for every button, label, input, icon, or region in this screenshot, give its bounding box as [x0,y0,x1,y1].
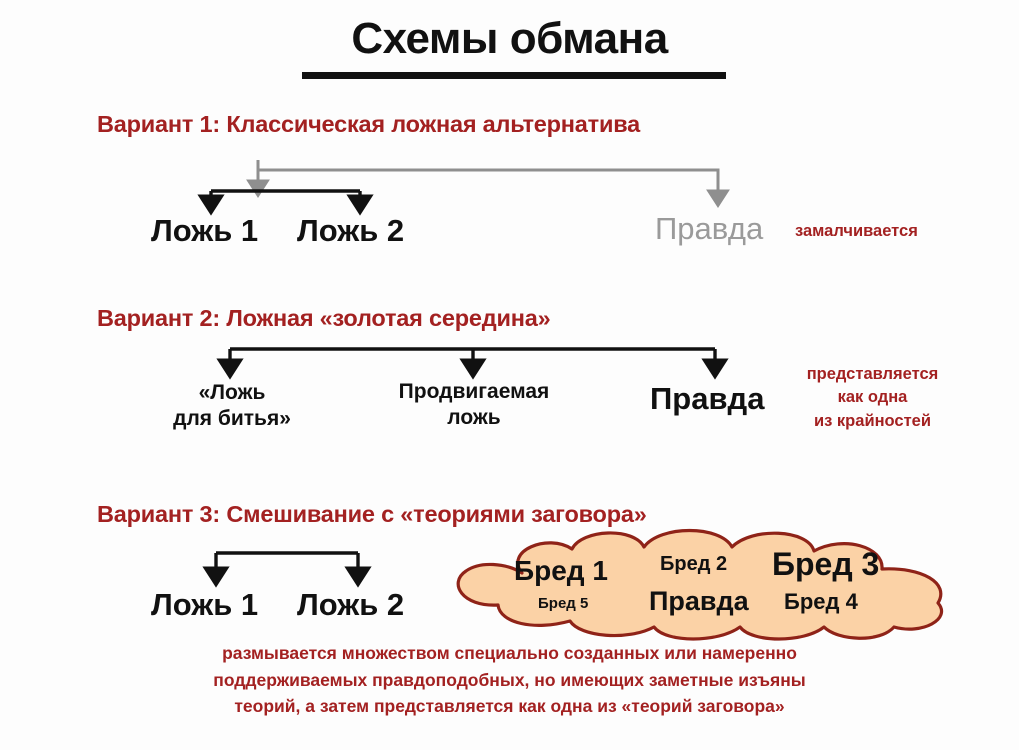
v1-black-bracket [211,191,360,202]
cloud-item-bred-1: Бред 1 [514,555,608,587]
variant-3-heading: Вариант 3: Смешивание с «теориями загово… [97,501,647,528]
v2-node-lie-for-beating: «Ложь для битья» [168,380,296,431]
v2-black-bracket [230,349,715,366]
v1-node-lie-2: Ложь 2 [297,212,404,250]
v3-annotation-line-2: поддерживаемых правдоподобных, но имеющи… [0,667,1019,694]
v1-node-lie-1: Ложь 1 [151,212,258,250]
v2-node-promoted-lie-line-2: ложь [447,406,500,429]
v2-node-lie-for-beating-line-1: «Ложь [199,381,266,404]
v2-node-lie-for-beating-line-2: для битья» [173,407,291,430]
variant-1-heading: Вариант 1: Классическая ложная альтернат… [97,111,640,138]
v2-node-truth: Правда [650,380,764,418]
v3-node-lie-2: Ложь 2 [297,586,404,624]
title-underline [302,72,726,79]
cloud-item-bred-2: Бред 2 [660,553,727,576]
v2-node-promoted-lie-line-1: Продвигаемая [399,380,550,403]
v3-black-bracket [216,553,358,574]
v1-annotation: замалчивается [795,222,918,241]
v2-annotation-line-2: как одна [790,386,955,409]
v3-annotation: размывается множеством специально создан… [0,640,1019,720]
v2-annotation-line-1: представляется [790,363,955,386]
page-title: Схемы обмана [0,14,1019,64]
v1-gray-bracket [258,160,718,196]
v3-node-lie-1: Ложь 1 [151,586,258,624]
cloud-item-truth: Правда [649,586,749,617]
v2-annotation-line-3: из крайностей [790,410,955,433]
conspiracy-cloud: Бред 1 Бред 2 Бред 3 Бред 4 Бред 5 Правд… [452,527,957,642]
v1-node-truth: Правда [655,210,763,248]
variant-2-heading: Вариант 2: Ложная «золотая середина» [97,305,550,332]
v3-annotation-line-1: размывается множеством специально создан… [0,640,1019,667]
cloud-item-bred-4: Бред 4 [784,589,858,615]
v2-node-promoted-lie: Продвигаемая ложь [378,379,570,430]
cloud-item-bred-5: Бред 5 [538,595,588,612]
deception-schemes-diagram: Схемы обмана [0,0,1019,750]
v2-annotation: представляется как одна из крайностей [790,363,955,433]
cloud-item-bred-3: Бред 3 [772,546,879,583]
v3-annotation-line-3: теорий, а затем представляется как одна … [0,693,1019,720]
